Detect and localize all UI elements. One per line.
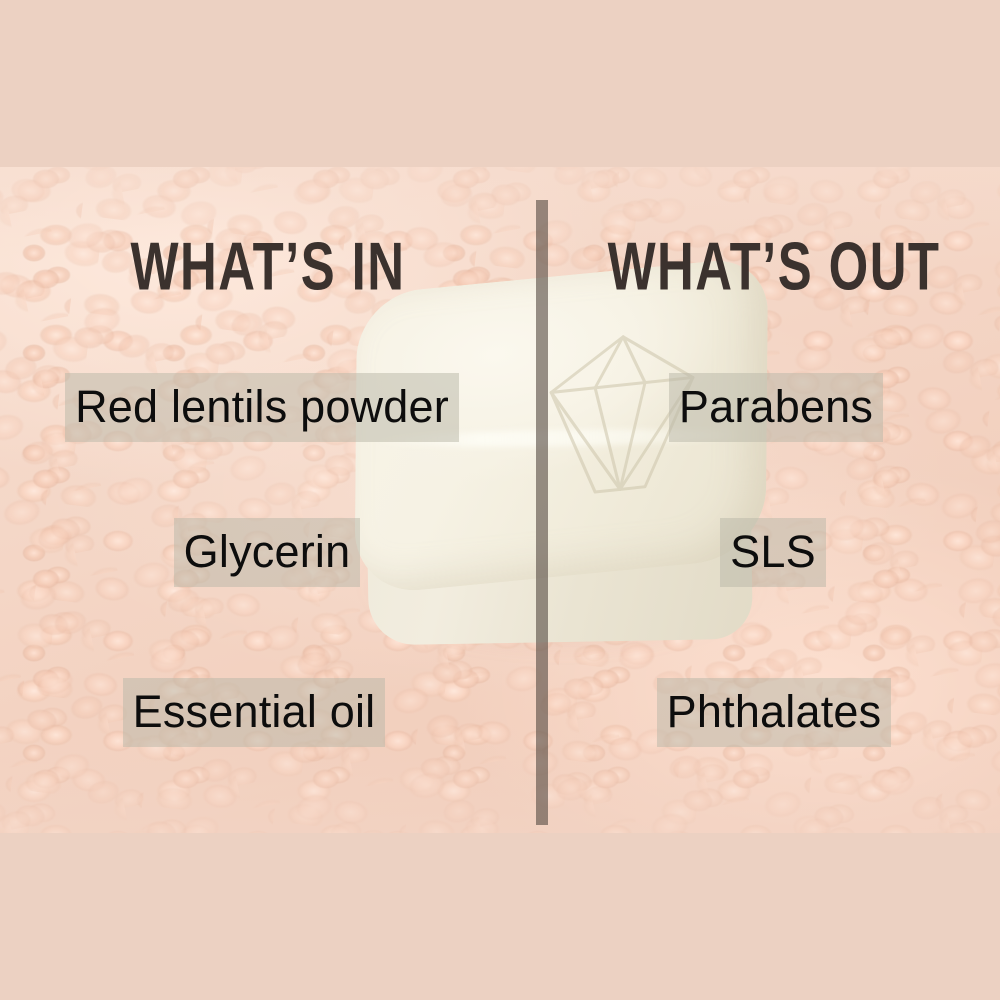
top-border-band: [0, 0, 1000, 167]
whats-out-item-2-label: SLS: [720, 518, 826, 587]
whats-in-item-3-label: Essential oil: [123, 678, 386, 747]
whats-in-heading: WHAT’S IN: [11, 228, 526, 306]
whats-out-item-1-label: Parabens: [669, 373, 883, 442]
bottom-border-band: [0, 833, 1000, 1000]
whats-out-heading: WHAT’S OUT: [557, 228, 991, 306]
ingredient-comparison-graphic: WHAT’S IN Red lentils powder Glycerin Es…: [0, 0, 1000, 1000]
whats-in-item-2-label: Glycerin: [174, 518, 361, 587]
whats-out-item-3: Phthalates: [548, 678, 1000, 747]
whats-in-item-3: Essential oil: [0, 678, 536, 747]
soap-bar-body: [349, 268, 776, 665]
whats-out-item-1: Parabens: [548, 373, 1000, 442]
whats-in-item-1-label: Red lentils powder: [65, 373, 459, 442]
soap-bar-product: [352, 272, 772, 672]
column-divider: [536, 200, 548, 825]
whats-out-item-2: SLS: [548, 518, 1000, 587]
whats-in-item-2: Glycerin: [0, 518, 536, 587]
whats-in-item-1: Red lentils powder: [0, 373, 536, 442]
whats-out-item-3-label: Phthalates: [657, 678, 892, 747]
